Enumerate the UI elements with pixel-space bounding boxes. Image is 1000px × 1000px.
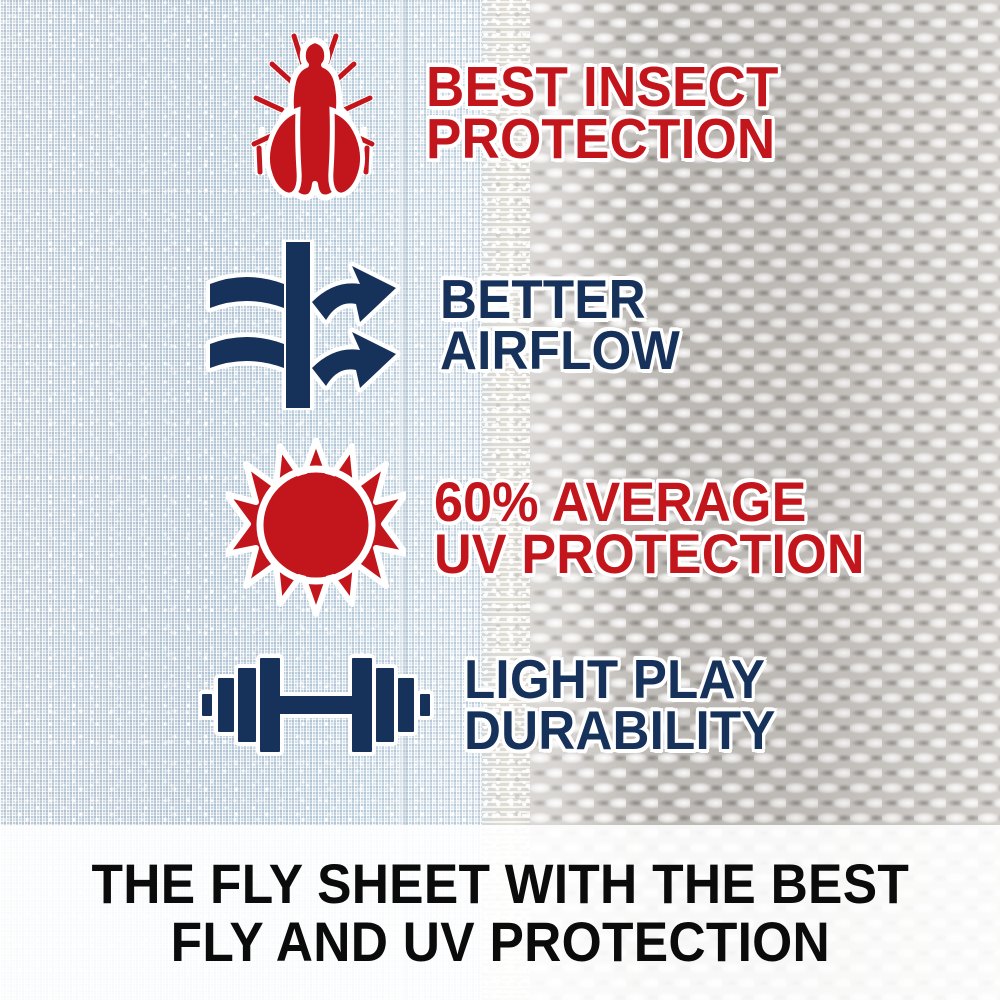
product-feature-poster: BEST INSECT PROTECTION (0, 0, 1000, 1000)
feature-row-uv-protection: 60% AVERAGE UV PROTECTION (226, 438, 897, 618)
feature-row-better-airflow: BETTER AIRFLOW (204, 240, 698, 410)
dumbbell-icon (196, 650, 436, 760)
feature-label-insect-protection: BEST INSECT PROTECTION (426, 61, 779, 166)
banner-headline: THE FLY SHEET WITH THE BEST FLY AND UV P… (91, 855, 909, 969)
fly-icon-wrapper (232, 22, 392, 202)
dumbbell-icon-wrapper (196, 650, 436, 760)
fly-icon (232, 22, 392, 202)
feature-label-better-airflow: BETTER AIRFLOW (440, 274, 680, 375)
airflow-icon-wrapper (204, 240, 404, 410)
sun-icon (226, 438, 406, 618)
airflow-icon (204, 240, 404, 410)
sun-icon-wrapper (226, 438, 406, 618)
bottom-banner: THE FLY SHEET WITH THE BEST FLY AND UV P… (0, 825, 1000, 1000)
feature-label-durability: LIGHT PLAY DURABILITY (464, 654, 776, 755)
feature-label-uv-protection: 60% AVERAGE UV PROTECTION (434, 476, 865, 579)
feature-row-durability: LIGHT PLAY DURABILITY (196, 650, 799, 760)
feature-row-insect-protection: BEST INSECT PROTECTION (232, 22, 805, 202)
